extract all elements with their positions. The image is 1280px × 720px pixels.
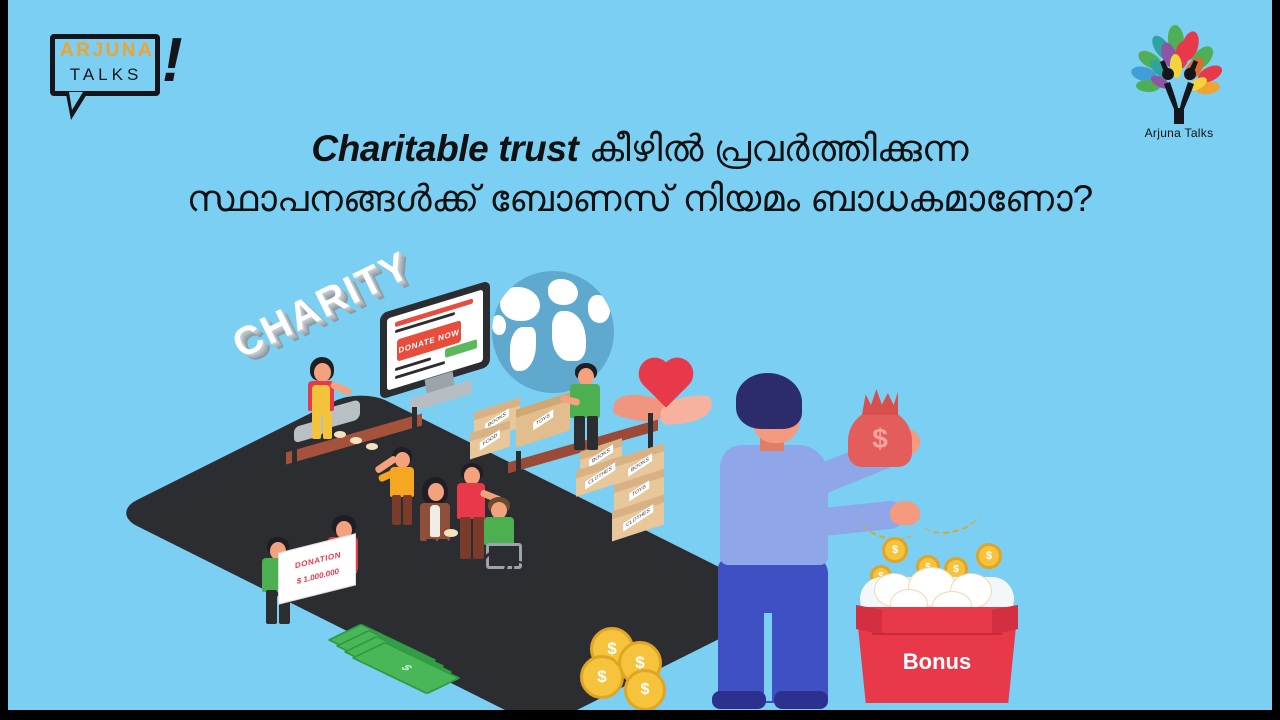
video-thumbnail: ARJUNA TALKS !: [0, 0, 1280, 720]
woman-with-bowl: [416, 477, 456, 563]
wheelchair-caster: [512, 561, 526, 575]
falling-coin: $: [882, 537, 908, 563]
gold-coin: $: [624, 669, 666, 710]
money-bag-icon: $: [844, 383, 916, 469]
desktop-monitor: DONATE NOW: [380, 297, 500, 409]
headline-english-phrase: Charitable trust: [311, 128, 578, 169]
banknote-dollar-symbol: $: [397, 664, 415, 673]
man-shoe-left: [712, 691, 766, 709]
money-bag-dollar-symbol: $: [844, 423, 916, 455]
man-leg-gap: [764, 613, 772, 701]
table-leg: [292, 445, 297, 503]
box-label: TOYS: [533, 410, 553, 431]
gold-coin: $: [580, 655, 624, 699]
tree-people-icon: [1124, 22, 1234, 126]
wheelchair-wheel: [482, 551, 508, 577]
speech-bubble-tail-inner-icon: [69, 92, 83, 110]
charity-illustration: CHARITY DONATE NOW: [8, 255, 1272, 710]
headline-line-2: സ്ഥാപനങ്ങൾക്ക് ബോണസ് നിയമം ബാധകമാണോ?: [8, 176, 1272, 222]
falling-coin: $: [976, 543, 1002, 569]
banknote-stack: $: [358, 627, 454, 691]
headline: Charitable trust കീഴിൽ പ്രവർത്തിക്കുന്ന …: [8, 126, 1272, 223]
man-shoe-right: [774, 691, 828, 709]
money-bag-neck: [862, 389, 898, 415]
arjuna-talks-wordmark-logo: ARJUNA TALKS !: [44, 28, 184, 120]
brand-name-arjuna: ARJUNA: [60, 41, 152, 60]
table-leg: [516, 451, 521, 503]
man-trousers: [718, 557, 828, 703]
thumbnail-canvas: ARJUNA TALKS !: [8, 0, 1272, 710]
food-bowl: [366, 443, 378, 450]
headline-line-1: Charitable trust കീഴിൽ പ്രവർത്തിക്കുന്ന: [8, 126, 1272, 172]
brand-name-talks: TALKS: [60, 66, 152, 83]
bonus-box-seam: [872, 633, 1002, 635]
man-sweater: [720, 445, 828, 565]
headline-malayalam-part-1: കീഴിൽ പ്രവർത്തിക്കുന്ന: [589, 128, 969, 169]
man-hair: [736, 373, 802, 429]
child-receiving-food: [384, 447, 420, 525]
exclamation-mark-icon: !: [162, 32, 183, 91]
volunteer-woman: [304, 357, 346, 439]
food-bowl: [350, 437, 362, 444]
bonus-box: Bonus: [856, 575, 1018, 705]
headline-malayalam-part-2: സ്ഥാപനങ്ങൾക്ക് ബോണസ് നിയമം ബാധകമാണോ?: [187, 178, 1094, 219]
bonus-box-label: Bonus: [856, 649, 1018, 675]
wheelchair-user: [482, 497, 536, 579]
volunteer-man-green: [568, 363, 608, 451]
